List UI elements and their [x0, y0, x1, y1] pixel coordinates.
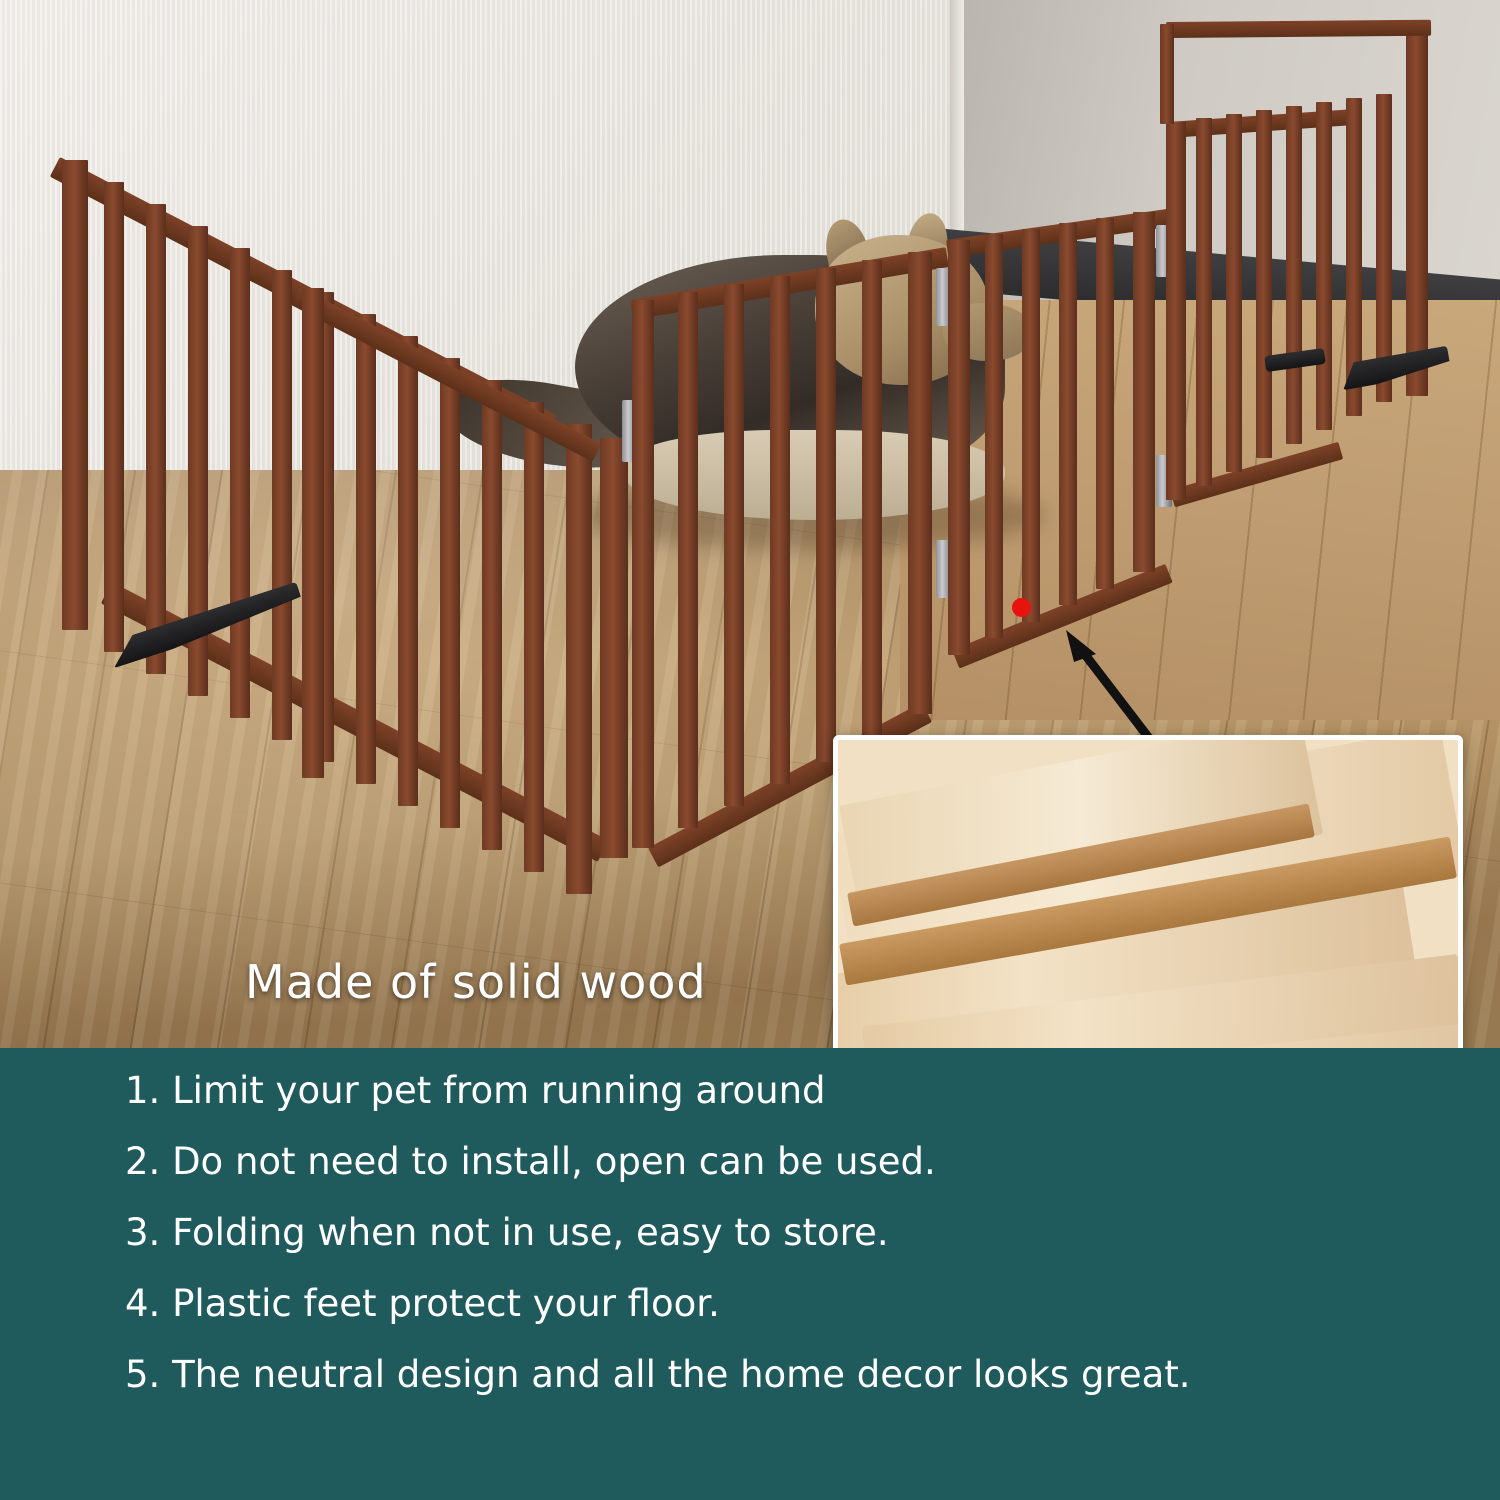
- feature-list-panel: 1. Limit your pet from running around 2.…: [0, 1048, 1500, 1500]
- lifestyle-photo: Made of solid wood: [0, 0, 1500, 1048]
- list-item: 4. Plastic feet protect your floor.: [125, 1285, 1445, 1322]
- list-item: 5. The neutral design and all the home d…: [125, 1356, 1445, 1393]
- photo-caption: Made of solid wood: [245, 955, 707, 1009]
- red-marker-dot: [1012, 598, 1031, 617]
- list-item: 2. Do not need to install, open can be u…: [125, 1143, 1445, 1180]
- callout-arrow-icon: [1040, 610, 1160, 750]
- solid-wood-inset-photo: [833, 735, 1463, 1048]
- list-item: 3. Folding when not in use, easy to stor…: [125, 1214, 1445, 1251]
- product-infographic: Made of solid wood 1. Limit your pet fro…: [0, 0, 1500, 1500]
- list-item: 1. Limit your pet from running around: [125, 1072, 1445, 1109]
- feature-list: 1. Limit your pet from running around 2.…: [125, 1072, 1445, 1427]
